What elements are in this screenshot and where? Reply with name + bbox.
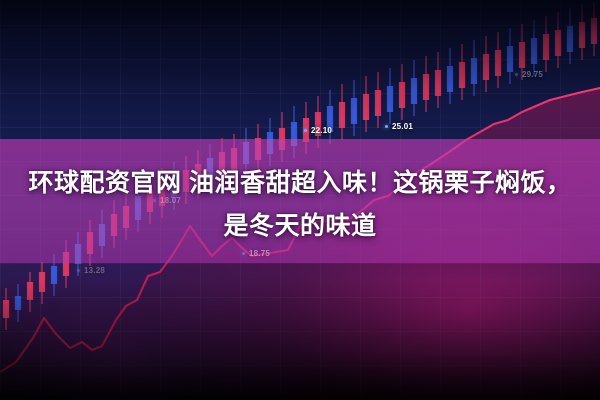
page-title: 环球配资官网 油润香甜超入味！这锅栗子焖饭， 是冬天的味道 bbox=[0, 162, 600, 248]
headline-line-2: 是冬天的味道 bbox=[0, 205, 600, 248]
price-label: 13.28 bbox=[84, 266, 105, 275]
price-label: 22.10 bbox=[311, 126, 332, 135]
price-label: 29.75 bbox=[522, 70, 543, 79]
price-label: 25.01 bbox=[392, 122, 413, 131]
price-label: 18.75 bbox=[249, 249, 270, 258]
banner-image: 13.2818.0718.7522.1025.0129.75 环球配资官网 油润… bbox=[0, 0, 600, 400]
headline-line-1: 环球配资官网 油润香甜超入味！这锅栗子焖饭， bbox=[0, 162, 600, 205]
